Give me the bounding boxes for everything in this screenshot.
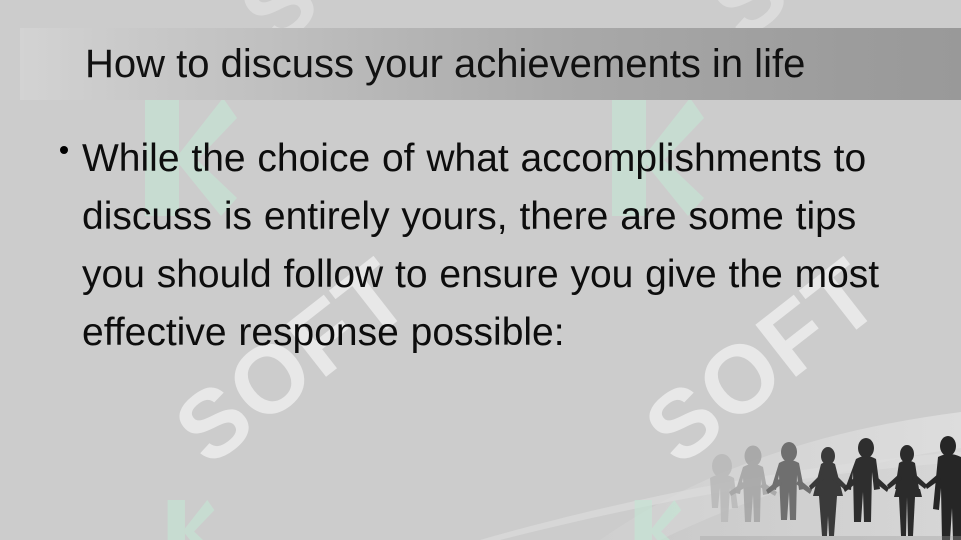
- k-logo-watermark-icon: [145, 500, 237, 540]
- bullet-list-item: While the choice of what accomplishments…: [56, 130, 936, 362]
- k-logo-watermark-icon: [612, 500, 704, 540]
- people-holding-hands-silhouette: [700, 430, 961, 540]
- bullet-item-text: While the choice of what accomplishments…: [82, 130, 882, 362]
- bullet-point-icon: [60, 146, 68, 154]
- slide-title: How to discuss your achievements in life: [85, 28, 945, 100]
- slide-body: While the choice of what accomplishments…: [56, 130, 936, 362]
- slide-canvas: SOFT SOFT SOFT SOFT: [0, 0, 961, 540]
